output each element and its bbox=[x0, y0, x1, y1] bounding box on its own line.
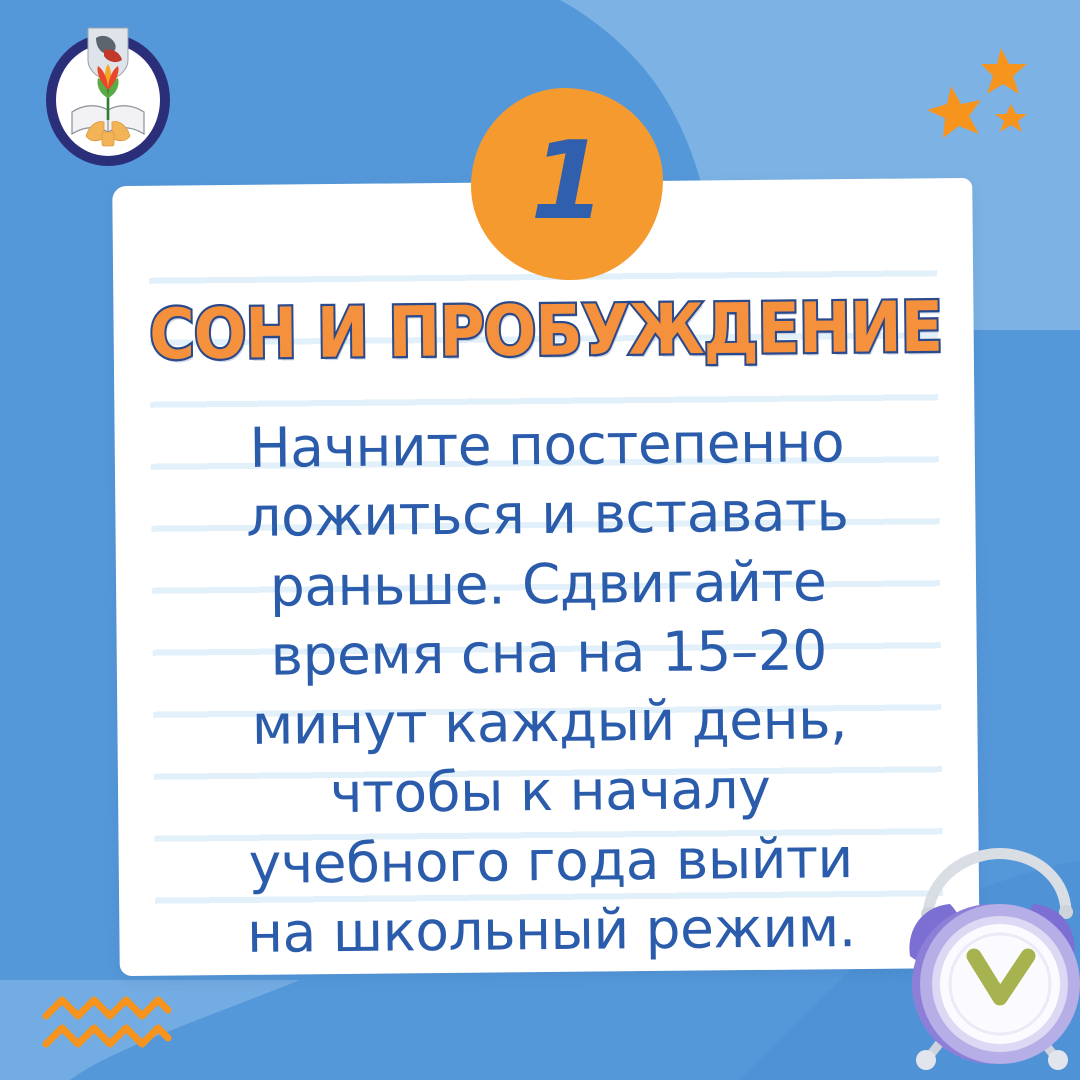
clock-foot-right bbox=[1048, 1050, 1068, 1070]
body-line: чтобы к началу bbox=[200, 754, 901, 830]
card-content: СОН И ПРОБУЖДЕНИЕ Начните постепенно лож… bbox=[132, 178, 964, 976]
body-line: минут каждый день, bbox=[199, 685, 900, 761]
body-line: учебного года выйти bbox=[200, 823, 901, 899]
zigzag-line-top bbox=[46, 1000, 168, 1016]
zigzag-decoration bbox=[42, 992, 172, 1056]
clock-foot-left bbox=[916, 1050, 936, 1070]
body-line: время сна на 15–20 bbox=[198, 616, 899, 692]
star-icon-medium bbox=[981, 48, 1027, 94]
card-headline: СОН И ПРОБУЖДЕНИЕ bbox=[149, 286, 943, 375]
clock-handle bbox=[928, 853, 1066, 912]
stars-decoration bbox=[915, 42, 1043, 146]
alarm-clock-illustration bbox=[888, 844, 1080, 1080]
step-number-label: 1 bbox=[530, 128, 603, 236]
body-line: Начните постепенно bbox=[196, 408, 897, 484]
body-line: ложиться и вставать bbox=[197, 477, 898, 553]
body-line: на школьный режим. bbox=[201, 893, 902, 969]
card-body-text: Начните постепенно ложиться и вставать р… bbox=[196, 408, 901, 969]
body-line: раньше. Сдвигайте bbox=[198, 546, 899, 622]
poster-root: 1 СОН И ПРОБУЖДЕНИЕ Начните постепенно л… bbox=[0, 0, 1080, 1080]
step-number-badge: 1 bbox=[471, 88, 663, 280]
zigzag-line-bottom bbox=[46, 1028, 168, 1044]
star-icon-small bbox=[995, 104, 1027, 132]
star-icon-large bbox=[927, 86, 981, 138]
education-department-logo bbox=[42, 20, 174, 172]
